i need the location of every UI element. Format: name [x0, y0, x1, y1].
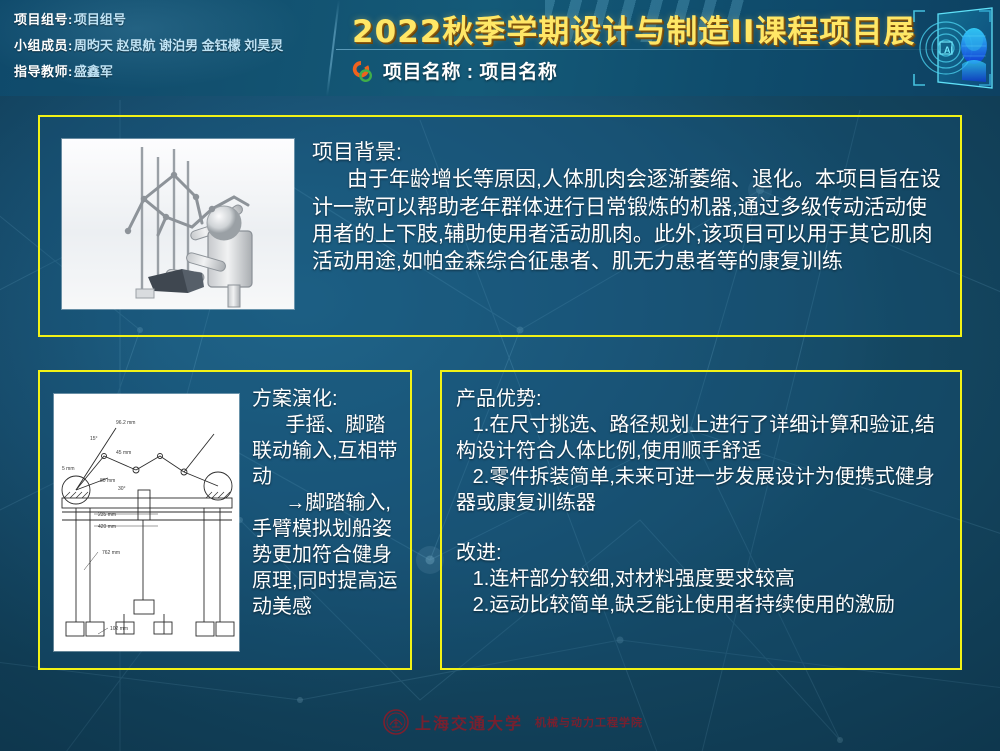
project-background-text: 项目背景: 由于年龄增长等原因,人体肌肉会逐渐萎缩、退化。本项目旨在设计一款可以…: [312, 139, 942, 275]
scheme-evolution-text: 方案演化: 手摇、脚踏联动输入,互相带动 →脚踏输入,手臂模拟划船姿势更加符合健…: [252, 386, 404, 620]
svg-text:80 mm: 80 mm: [100, 478, 115, 484]
poster-footer: 上海交通大学 机械与动力工程学院: [0, 699, 1000, 751]
poster-canvas: 项目组号: 项目组号 小组成员: 周昀天 赵思航 谢泊男 金钰檬 刘昊灵 指导教…: [0, 0, 1000, 751]
linkage-drawing-image: 96.2 mm 15° 45 mm 5 mm 80 mm 30° 235 mm …: [54, 394, 239, 651]
project-name-text: 项目名称 : 项目名称: [383, 57, 557, 84]
university-name: 上海交通大学: [415, 710, 523, 734]
svg-text:5 mm: 5 mm: [62, 466, 75, 472]
svg-text:96.2 mm: 96.2 mm: [116, 420, 135, 426]
university-logo: 上海交通大学 机械与动力工程学院: [383, 707, 597, 737]
info-row-advisor: 指导教师: 盛鑫军: [14, 61, 334, 82]
product-advantages-text: 产品优势: 1.在尺寸挑选、路径规划上进行了详细计算和验证,结构设计符合人体比例…: [456, 386, 948, 516]
svg-text:762 mm: 762 mm: [102, 550, 120, 556]
ai-face-scan-icon: AI: [904, 0, 1000, 96]
university-seal-icon: [383, 709, 409, 735]
svg-text:420 mm: 420 mm: [98, 524, 116, 530]
info-row-members: 小组成员: 周昀天 赵思航 谢泊男 金钰檬 刘昊灵: [14, 35, 334, 56]
group-number-value: 项目组号: [74, 9, 126, 28]
project-name-row: 项目名称 : 项目名称: [348, 57, 557, 84]
section-project-background: 项目背景: 由于年龄增长等原因,人体肌肉会逐渐萎缩、退化。本项目旨在设计一款可以…: [38, 115, 962, 337]
section-scheme-evolution: 96.2 mm 15° 45 mm 5 mm 80 mm 30° 235 mm …: [38, 370, 412, 670]
improvements-text: 改进: 1.连杆部分较细,对材料强度要求较高 2.运动比较简单,缺乏能让使用者持…: [456, 540, 948, 618]
svg-text:30°: 30°: [118, 486, 126, 492]
gear-logo-icon: [348, 58, 374, 84]
advisor-label: 指导教师:: [14, 61, 73, 80]
svg-text:AI: AI: [944, 45, 953, 55]
svg-text:102 mm: 102 mm: [110, 626, 128, 632]
poster-title: 2022秋季学期设计与制造II课程项目展: [352, 6, 915, 51]
svg-text:235 mm: 235 mm: [98, 512, 116, 518]
members-label: 小组成员:: [14, 35, 73, 54]
poster-header: 项目组号: 项目组号 小组成员: 周昀天 赵思航 谢泊男 金钰檬 刘昊灵 指导教…: [0, 0, 1000, 96]
section-advantages-improvements: 产品优势: 1.在尺寸挑选、路径规划上进行了详细计算和验证,结构设计符合人体比例…: [440, 370, 962, 670]
info-row-group-number: 项目组号: 项目组号: [14, 9, 334, 30]
svg-text:15°: 15°: [90, 436, 98, 442]
svg-text:45 mm: 45 mm: [116, 450, 131, 456]
school-name: 机械与动力工程学院: [535, 714, 643, 730]
members-value: 周昀天 赵思航 谢泊男 金钰檬 刘昊灵: [74, 35, 283, 54]
group-number-label: 项目组号:: [14, 9, 73, 28]
exercise-machine-image: [62, 139, 294, 309]
advisor-value: 盛鑫军: [74, 61, 113, 80]
project-info-panel: 项目组号: 项目组号 小组成员: 周昀天 赵思航 谢泊男 金钰檬 刘昊灵 指导教…: [14, 9, 334, 87]
